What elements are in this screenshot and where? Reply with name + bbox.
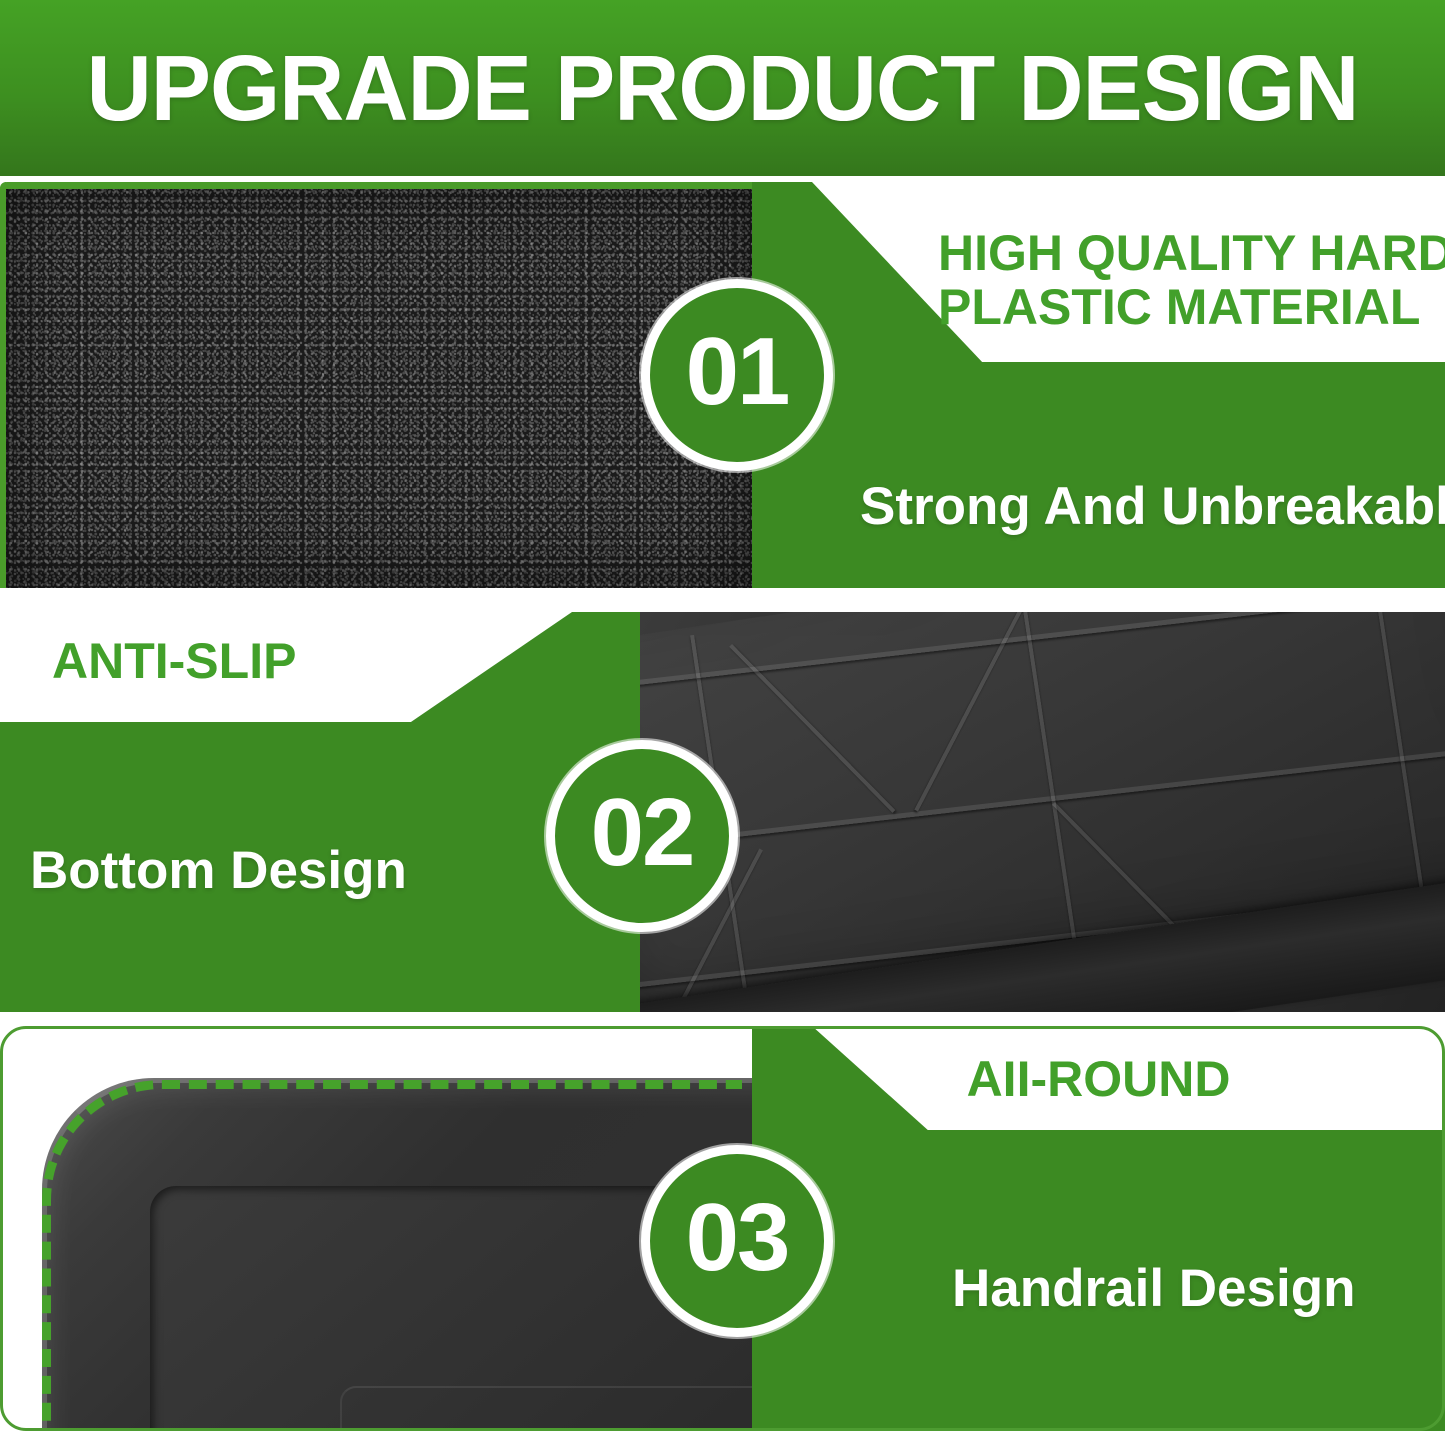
feature-panel-01: HIGH QUALITY HARD PLASTIC MATERIAL Stron… (0, 182, 1445, 588)
feature-subline-01: Strong And Unbreakable (860, 480, 1445, 533)
page-title: UPGRADE PRODUCT DESIGN (22, 0, 1424, 176)
feature-panel-03: AII-ROUND Handrail Design 03 (0, 1026, 1445, 1431)
feature-info-03: AII-ROUND Handrail Design (752, 1026, 1445, 1431)
feature-panel-02: ANTI-SLIP Bottom Design 02 (0, 612, 1445, 1012)
feature-info-01: HIGH QUALITY HARD PLASTIC MATERIAL Stron… (752, 182, 1445, 588)
tray-rib-horizontal-mid (620, 749, 1445, 852)
feature-number-03: 03 (686, 1190, 789, 1286)
feature-number-01: 01 (686, 324, 789, 420)
header-banner: UPGRADE PRODUCT DESIGN (0, 0, 1445, 176)
feature-headline-01: HIGH QUALITY HARD PLASTIC MATERIAL (938, 226, 1445, 334)
tray-bottom-surface (620, 612, 1445, 1012)
feature-number-badge-01: 01 (641, 279, 833, 471)
tray-rib-vertical-right (1367, 612, 1430, 930)
feature-subline-03: Handrail Design (952, 1262, 1355, 1315)
feature-image-02 (620, 612, 1445, 1012)
mat-side-edge (0, 182, 6, 588)
feature-number-badge-03: 03 (641, 1145, 833, 1337)
handrail-dashed-highlight (42, 1080, 742, 1431)
info-band-01 (752, 362, 1445, 588)
mat-top-edge (0, 182, 755, 189)
feature-headline-02: ANTI-SLIP (52, 634, 572, 688)
feature-headline-03: AII-ROUND (752, 1052, 1445, 1106)
feature-number-02: 02 (591, 785, 694, 881)
feature-subline-02: Bottom Design (30, 844, 407, 897)
infographic-page: UPGRADE PRODUCT DESIGN HIGH QUALITY HARD… (0, 0, 1445, 1431)
tray-rib-diagonal-a (730, 644, 896, 813)
feature-number-badge-02: 02 (546, 740, 738, 932)
feature-info-02: ANTI-SLIP Bottom Design (0, 612, 640, 1012)
